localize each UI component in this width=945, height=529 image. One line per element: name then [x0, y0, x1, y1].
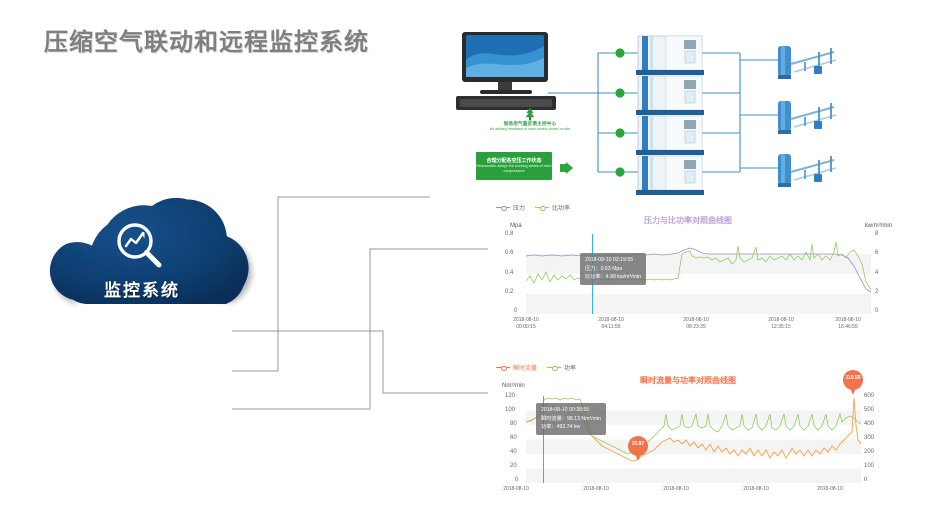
pressure-power-chart[interactable]: 压力 比功率 压力与比功率对照曲线图 Mpa kw/m³/min 0.8 0.6… [488, 203, 888, 333]
chart2-y2tick: 400 [864, 421, 874, 427]
node-indicators [615, 48, 624, 176]
green-box-en: Reasonable assign the working states of … [476, 164, 552, 173]
chart1-xtick: 2018-08-10 00:00:15 [496, 317, 556, 331]
chart2-ytick: 40 [510, 449, 517, 455]
cloud-label: 监控系统 [30, 276, 254, 301]
chart2-y2tick: 600 [864, 393, 874, 399]
chart2-y2tick: 100 [864, 463, 874, 469]
legend-item-power[interactable]: 功率 [547, 363, 576, 372]
chart1-plot-area[interactable] [526, 234, 871, 314]
chart1-y-axis-unit: Mpa [510, 223, 522, 229]
tooltip-row: 瞬时流量：98.13 Nm³/min [541, 415, 601, 424]
chart2-tooltip: 2018-08-10 00:38:55 瞬时流量：98.13 Nm³/min 功… [536, 403, 606, 435]
legend-marker-icon [496, 364, 510, 371]
chart2-title: 瞬时流量与功率对照曲线图 [488, 375, 888, 386]
slide-root: 压缩空气联动和远程监控系统 [0, 0, 945, 529]
chart1-y2tick: 6 [875, 250, 878, 256]
chart1-y2tick: 8 [875, 231, 878, 237]
chart2-legend[interactable]: 瞬时流量 功率 [496, 363, 576, 372]
chart2-ytick: 0 [515, 477, 518, 483]
legend-item-instant-flow[interactable]: 瞬时流量 [496, 363, 537, 372]
legend-item-specific-power[interactable]: 比功率 [535, 203, 570, 212]
legend-label: 比功率 [552, 203, 570, 212]
chart2-xtick: 2018-08-10 [566, 486, 626, 493]
chart1-y2tick: 4 [875, 270, 878, 276]
chart1-xtick: 2018-08-10 04:11:55 [581, 317, 641, 331]
tooltip-row: 压力：0.63 Mpa [585, 265, 641, 274]
magnifier-chart-icon [112, 218, 170, 276]
legend-marker-icon [547, 364, 561, 371]
marker-value: 110.55 [843, 375, 863, 381]
flow-power-chart[interactable]: 瞬时流量 功率 瞬时流量与功率对照曲线图 Nm³/min 120 100 80 … [488, 363, 888, 513]
legend-label: 功率 [564, 363, 576, 372]
chart2-xtick: 2018-08-10 [486, 486, 546, 493]
chart1-ytick: 0 [514, 308, 517, 314]
chart2-ytick: 120 [505, 393, 515, 399]
page-title: 压缩空气联动和远程监控系统 [44, 22, 369, 57]
chart2-xtick: 2018-08-10 [800, 486, 860, 493]
tree-icon [470, 108, 590, 121]
chart2-y2tick: 500 [864, 407, 874, 413]
chart1-ytick: 0.2 [505, 289, 513, 295]
chart1-y2-axis-unit: kw/m³/min [865, 223, 892, 229]
chart1-ytick: 0.6 [505, 250, 513, 256]
legend-label: 瞬时流量 [513, 363, 537, 372]
tooltip-time: 2018-08-10 00:38:55 [541, 406, 601, 415]
chart2-y-axis-unit: Nm³/min [502, 383, 525, 389]
chart1-legend[interactable]: 压力 比功率 [496, 203, 570, 212]
chart1-xtick: 2018-08-10 12:35:15 [751, 317, 811, 331]
chart1-xtick: 2018-08-10 16:46:55 [818, 317, 878, 331]
chart2-xtick: 2018-08-10 [726, 486, 786, 493]
chart1-ytick: 0.4 [505, 270, 513, 276]
chart1-title: 压力与比功率对照曲线图 [488, 215, 888, 226]
legend-item-pressure[interactable]: 压力 [496, 203, 525, 212]
monitoring-cloud[interactable]: 监控系统 [30, 190, 290, 335]
chart1-ytick: 0.8 [505, 231, 513, 237]
tooltip-row: 比功率：4.99 kw/m³/min [585, 273, 641, 282]
legend-marker-icon [535, 204, 549, 211]
control-center-caption: 现场用气量反馈主控中心 Air delivery feedback of mai… [470, 108, 590, 131]
caption-en: Air delivery feedback of main control ce… [470, 127, 590, 131]
chart1-y2tick: 0 [875, 308, 878, 314]
chart2-ytick: 80 [510, 421, 517, 427]
green-status-box: 合理分配各空压工作状态 Reasonable assign the workin… [476, 152, 552, 180]
legend-label: 压力 [513, 203, 525, 212]
arrow-right-icon [560, 161, 574, 179]
desktop-computer-icon [456, 32, 556, 110]
chart2-ytick: 100 [505, 407, 515, 413]
legend-marker-icon [496, 204, 510, 211]
chart2-y2tick: 0 [864, 477, 867, 483]
chart2-y2tick: 300 [864, 435, 874, 441]
flow-max-marker[interactable]: 110.55 [843, 370, 863, 396]
tooltip-row: 功率：493.74 kw [541, 423, 601, 432]
tooltip-time: 2018-08-10 02:19:55 [585, 256, 641, 265]
chart2-y2tick: 200 [864, 449, 874, 455]
chart2-ytick: 20 [510, 463, 517, 469]
chart2-xtick: 2018-08-10 [646, 486, 706, 493]
chart2-ytick: 60 [510, 435, 517, 441]
flow-min-marker[interactable]: 33.87 [628, 436, 648, 462]
chart1-y2tick: 2 [875, 289, 878, 295]
chart1-tooltip: 2018-08-10 02:19:55 压力：0.63 Mpa 比功率：4.99… [580, 253, 646, 285]
chart1-xtick: 2018-08-10 08:23:35 [666, 317, 726, 331]
marker-value: 33.87 [628, 441, 648, 447]
